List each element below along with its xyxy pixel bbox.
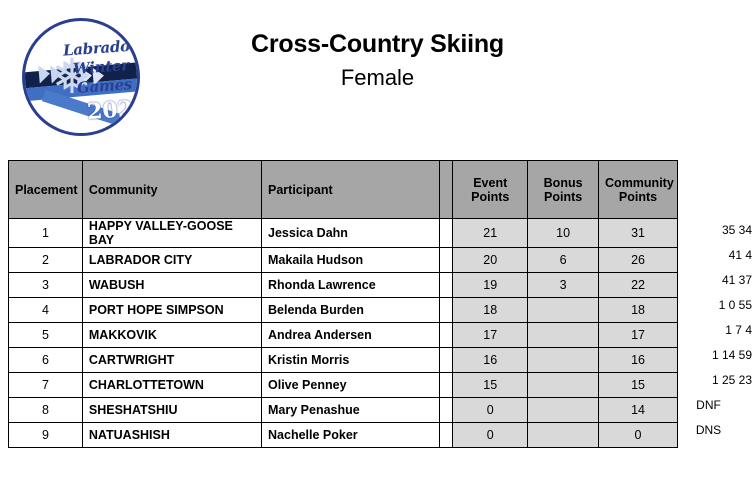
cell-status: DNF (678, 393, 755, 418)
cell-event-points: 0 (453, 423, 528, 448)
cell-participant: Mary Penashue (262, 398, 440, 423)
cell-spacer (440, 323, 453, 348)
cell-community: HAPPY VALLEY-GOOSE BAY (82, 219, 261, 248)
cell-participant: Makaila Hudson (262, 248, 440, 273)
table-row: 4PORT HOPE SIMPSONBelenda Burden1818 (9, 298, 678, 323)
cell-placement: 2 (9, 248, 83, 273)
cell-community-points: 22 (599, 273, 678, 298)
page-header: ❅ Labrador Winter Games 2026 Cross-Count… (0, 0, 755, 150)
table-row: 9NATUASHISHNachelle Poker00 (9, 423, 678, 448)
cell-participant: Kristin Morris (262, 348, 440, 373)
cell-bonus-points (528, 348, 599, 373)
cell-spacer (440, 273, 453, 298)
table-header-row: Placement Community Participant Event Po… (9, 161, 678, 219)
column-header-bonus-points: Bonus Points (528, 161, 599, 219)
labrador-winter-games-logo: ❅ Labrador Winter Games 2026 (22, 18, 140, 136)
table-row: 6CARTWRIGHTKristin Morris1616 (9, 348, 678, 373)
cell-spacer (440, 423, 453, 448)
cell-participant: Belenda Burden (262, 298, 440, 323)
cell-participant: Rhonda Lawrence (262, 273, 440, 298)
cell-spacer (440, 248, 453, 273)
column-header-participant: Participant (262, 161, 440, 219)
cell-spacer (440, 398, 453, 423)
cell-time: 1 7 4 (678, 318, 755, 343)
cell-placement: 8 (9, 398, 83, 423)
column-header-community-points: Community Points (599, 161, 678, 219)
cell-community: MAKKOVIK (82, 323, 261, 348)
cell-community: PORT HOPE SIMPSON (82, 298, 261, 323)
cell-event-points: 20 (453, 248, 528, 273)
cell-event-points: 21 (453, 219, 528, 248)
column-header-community-points-line1: Community (605, 176, 671, 190)
time-column-header-spacer (678, 160, 755, 218)
cell-bonus-points: 3 (528, 273, 599, 298)
column-header-event-points-line1: Event (459, 176, 521, 190)
cell-placement: 3 (9, 273, 83, 298)
cell-community: WABUSH (82, 273, 261, 298)
cell-community-points: 14 (599, 398, 678, 423)
table-row: 1HAPPY VALLEY-GOOSE BAYJessica Dahn21103… (9, 219, 678, 248)
cell-spacer (440, 298, 453, 323)
cell-community: NATUASHISH (82, 423, 261, 448)
table-row: 3WABUSHRhonda Lawrence19322 (9, 273, 678, 298)
column-header-event-points: Event Points (453, 161, 528, 219)
cell-participant: Olive Penney (262, 373, 440, 398)
cell-spacer (440, 373, 453, 398)
column-header-spacer (440, 161, 453, 219)
cell-placement: 9 (9, 423, 83, 448)
cell-status: DNS (678, 418, 755, 443)
cell-community-points: 15 (599, 373, 678, 398)
cell-placement: 6 (9, 348, 83, 373)
time-status-column: 35 3441 441 371 0 551 7 41 14 591 25 23D… (678, 160, 755, 443)
cell-event-points: 15 (453, 373, 528, 398)
cell-time: 35 34 (678, 218, 755, 243)
cell-participant: Andrea Andersen (262, 323, 440, 348)
cell-placement: 7 (9, 373, 83, 398)
column-header-community-points-line2: Points (605, 190, 671, 204)
cell-placement: 4 (9, 298, 83, 323)
column-header-event-points-line2: Points (459, 190, 521, 204)
time-column-body: 35 3441 441 371 0 551 7 41 14 591 25 23D… (678, 218, 755, 443)
cell-placement: 1 (9, 219, 83, 248)
cell-event-points: 17 (453, 323, 528, 348)
cell-bonus-points (528, 373, 599, 398)
table-row: 8SHESHATSHIUMary Penashue014 (9, 398, 678, 423)
cell-bonus-points (528, 323, 599, 348)
cell-community: LABRADOR CITY (82, 248, 261, 273)
cell-bonus-points: 6 (528, 248, 599, 273)
cell-bonus-points: 10 (528, 219, 599, 248)
logo-circle: ❅ Labrador Winter Games 2026 (22, 18, 140, 136)
results-table: Placement Community Participant Event Po… (8, 160, 678, 448)
cell-community: CHARLOTTETOWN (82, 373, 261, 398)
cell-participant: Nachelle Poker (262, 423, 440, 448)
cell-time: 1 14 59 (678, 343, 755, 368)
cell-community-points: 31 (599, 219, 678, 248)
cell-event-points: 16 (453, 348, 528, 373)
cell-community-points: 0 (599, 423, 678, 448)
column-header-community: Community (82, 161, 261, 219)
cell-placement: 5 (9, 323, 83, 348)
column-header-bonus-points-line2: Points (534, 190, 592, 204)
column-header-placement: Placement (9, 161, 83, 219)
cell-event-points: 19 (453, 273, 528, 298)
cell-community-points: 26 (599, 248, 678, 273)
cell-bonus-points (528, 398, 599, 423)
logo-text-year: 2026 (86, 95, 140, 125)
cell-spacer (440, 219, 453, 248)
cell-time: 41 4 (678, 243, 755, 268)
cell-community: CARTWRIGHT (82, 348, 261, 373)
cell-bonus-points (528, 298, 599, 323)
cell-time: 1 0 55 (678, 293, 755, 318)
cell-community-points: 16 (599, 348, 678, 373)
cell-time: 1 25 23 (678, 368, 755, 393)
cell-community-points: 17 (599, 323, 678, 348)
results-table-zone: Placement Community Participant Event Po… (8, 160, 748, 448)
cell-time: 41 37 (678, 268, 755, 293)
cell-event-points: 18 (453, 298, 528, 323)
cell-spacer (440, 348, 453, 373)
column-header-bonus-points-line1: Bonus (534, 176, 592, 190)
table-body: 1HAPPY VALLEY-GOOSE BAYJessica Dahn21103… (9, 219, 678, 448)
table-row: 2LABRADOR CITYMakaila Hudson20626 (9, 248, 678, 273)
cell-event-points: 0 (453, 398, 528, 423)
cell-community: SHESHATSHIU (82, 398, 261, 423)
cell-bonus-points (528, 423, 599, 448)
logo-text-games: Games (76, 75, 132, 97)
cell-community-points: 18 (599, 298, 678, 323)
cell-participant: Jessica Dahn (262, 219, 440, 248)
table-header: Placement Community Participant Event Po… (9, 161, 678, 219)
table-row: 5MAKKOVIKAndrea Andersen1717 (9, 323, 678, 348)
table-row: 7CHARLOTTETOWNOlive Penney1515 (9, 373, 678, 398)
